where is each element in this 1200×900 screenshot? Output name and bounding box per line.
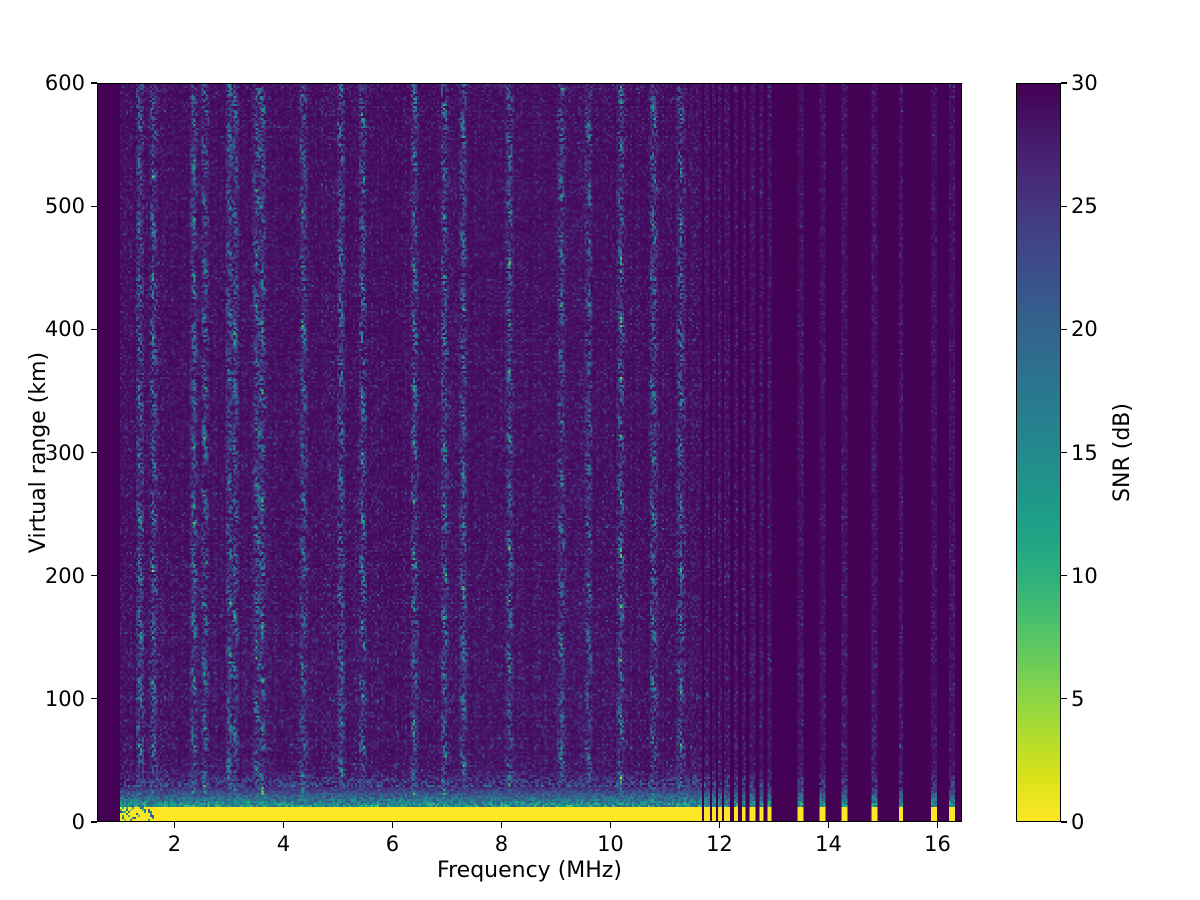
y-tick-mark — [91, 575, 97, 576]
x-tick-label: 4 — [277, 832, 290, 856]
x-tick-label: 14 — [815, 832, 842, 856]
colorbar-tick-label: 25 — [1071, 194, 1098, 218]
colorbar-tick-mark — [1061, 575, 1067, 576]
x-tick-label: 10 — [597, 832, 624, 856]
x-tick-mark — [392, 822, 393, 828]
colorbar-tick-label: 0 — [1071, 810, 1084, 834]
x-tick-mark — [937, 822, 938, 828]
x-tick-label: 12 — [706, 832, 733, 856]
y-tick-mark — [91, 452, 97, 453]
x-tick-label: 6 — [386, 832, 399, 856]
x-tick-label: 2 — [168, 832, 181, 856]
x-tick-mark — [610, 822, 611, 828]
colorbar-tick-label: 30 — [1071, 71, 1098, 95]
colorbar-tick-mark — [1061, 698, 1067, 699]
y-axis-label: Virtual range (km) — [22, 83, 56, 822]
y-tick-mark — [91, 698, 97, 699]
x-tick-mark — [174, 822, 175, 828]
colorbar[interactable] — [1016, 83, 1061, 822]
x-axis-label: Frequency (MHz) — [97, 858, 962, 883]
x-tick-label: 8 — [495, 832, 508, 856]
colorbar-tick-mark — [1061, 82, 1067, 83]
colorbar-tick-mark — [1061, 452, 1067, 453]
colorbar-label: SNR (dB) — [1108, 83, 1138, 822]
colorbar-tick-mark — [1061, 821, 1067, 822]
x-tick-mark — [719, 822, 720, 828]
colorbar-gradient — [1017, 84, 1060, 821]
colorbar-tick-mark — [1061, 329, 1067, 330]
heatmap-plot-area[interactable] — [97, 83, 962, 822]
x-tick-label: 16 — [924, 832, 951, 856]
y-tick-mark — [91, 206, 97, 207]
y-tick-mark — [91, 82, 97, 83]
colorbar-tick-mark — [1061, 206, 1067, 207]
colorbar-tick-label: 10 — [1071, 564, 1098, 588]
ionogram-heatmap — [98, 84, 961, 821]
x-tick-mark — [501, 822, 502, 828]
x-tick-mark — [828, 822, 829, 828]
colorbar-tick-label: 5 — [1071, 687, 1084, 711]
colorbar-tick-label: 15 — [1071, 441, 1098, 465]
y-tick-mark — [91, 821, 97, 822]
ionogram-figure: IRF Uppsala SDR Ionosonde UP158 2025-12-… — [0, 0, 1200, 900]
y-tick-mark — [91, 329, 97, 330]
colorbar-tick-label: 20 — [1071, 317, 1098, 341]
x-tick-mark — [283, 822, 284, 828]
